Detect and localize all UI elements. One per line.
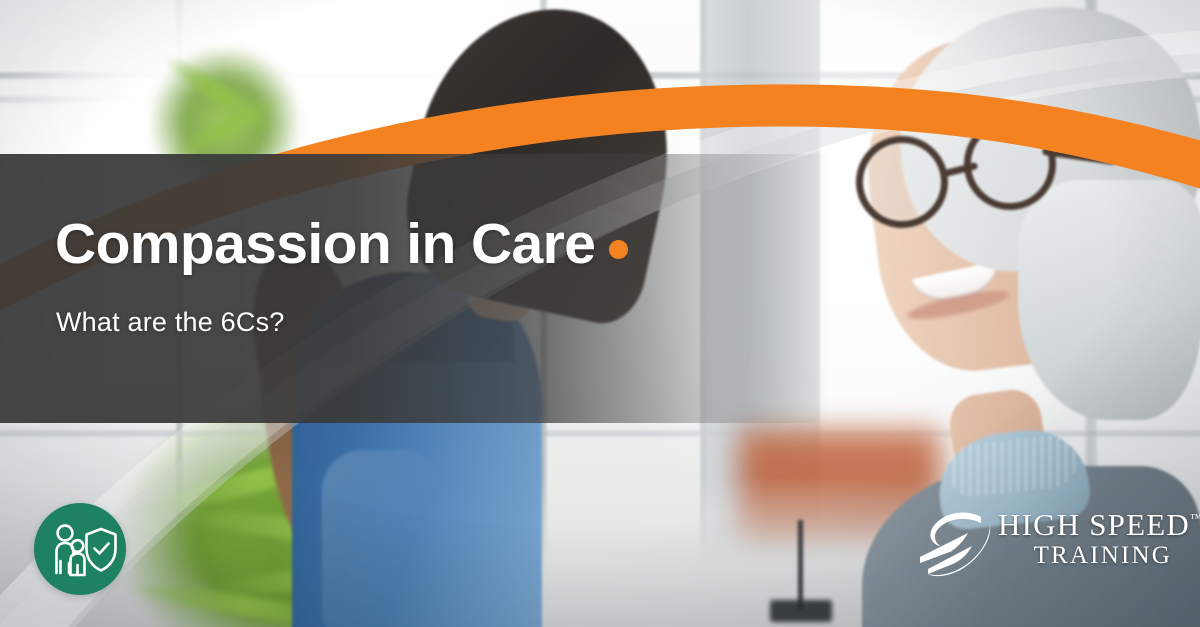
check-icon: [95, 544, 109, 554]
high-speed-swoosh-mark: [918, 511, 994, 583]
logo-line-1: HIGH SPEED™: [998, 509, 1174, 542]
safeguarding-badge: [34, 503, 126, 595]
high-speed-training-logo[interactable]: HIGH SPEED™ TRAINING: [918, 505, 1170, 589]
page-title: Compassion in Care: [55, 216, 628, 273]
safeguarding-badge-art: [34, 503, 126, 595]
logo-line-2: TRAINING: [998, 542, 1174, 570]
page-subtitle: What are the 6Cs?: [56, 307, 285, 338]
headline-block: Compassion in Care What are the 6Cs?: [55, 154, 755, 423]
care-banner: Compassion in Care What are the 6Cs?: [0, 0, 1200, 627]
adult-legs-icon: [61, 561, 70, 573]
child-head-icon: [72, 540, 84, 552]
orange-dot-icon: [609, 240, 628, 259]
adult-head-icon: [58, 526, 73, 541]
page-title-text: Compassion in Care: [55, 212, 595, 276]
logo-wordmark: HIGH SPEED™ TRAINING: [998, 509, 1174, 569]
trademark-icon: ™: [1190, 511, 1200, 525]
shield-icon: [87, 529, 116, 571]
